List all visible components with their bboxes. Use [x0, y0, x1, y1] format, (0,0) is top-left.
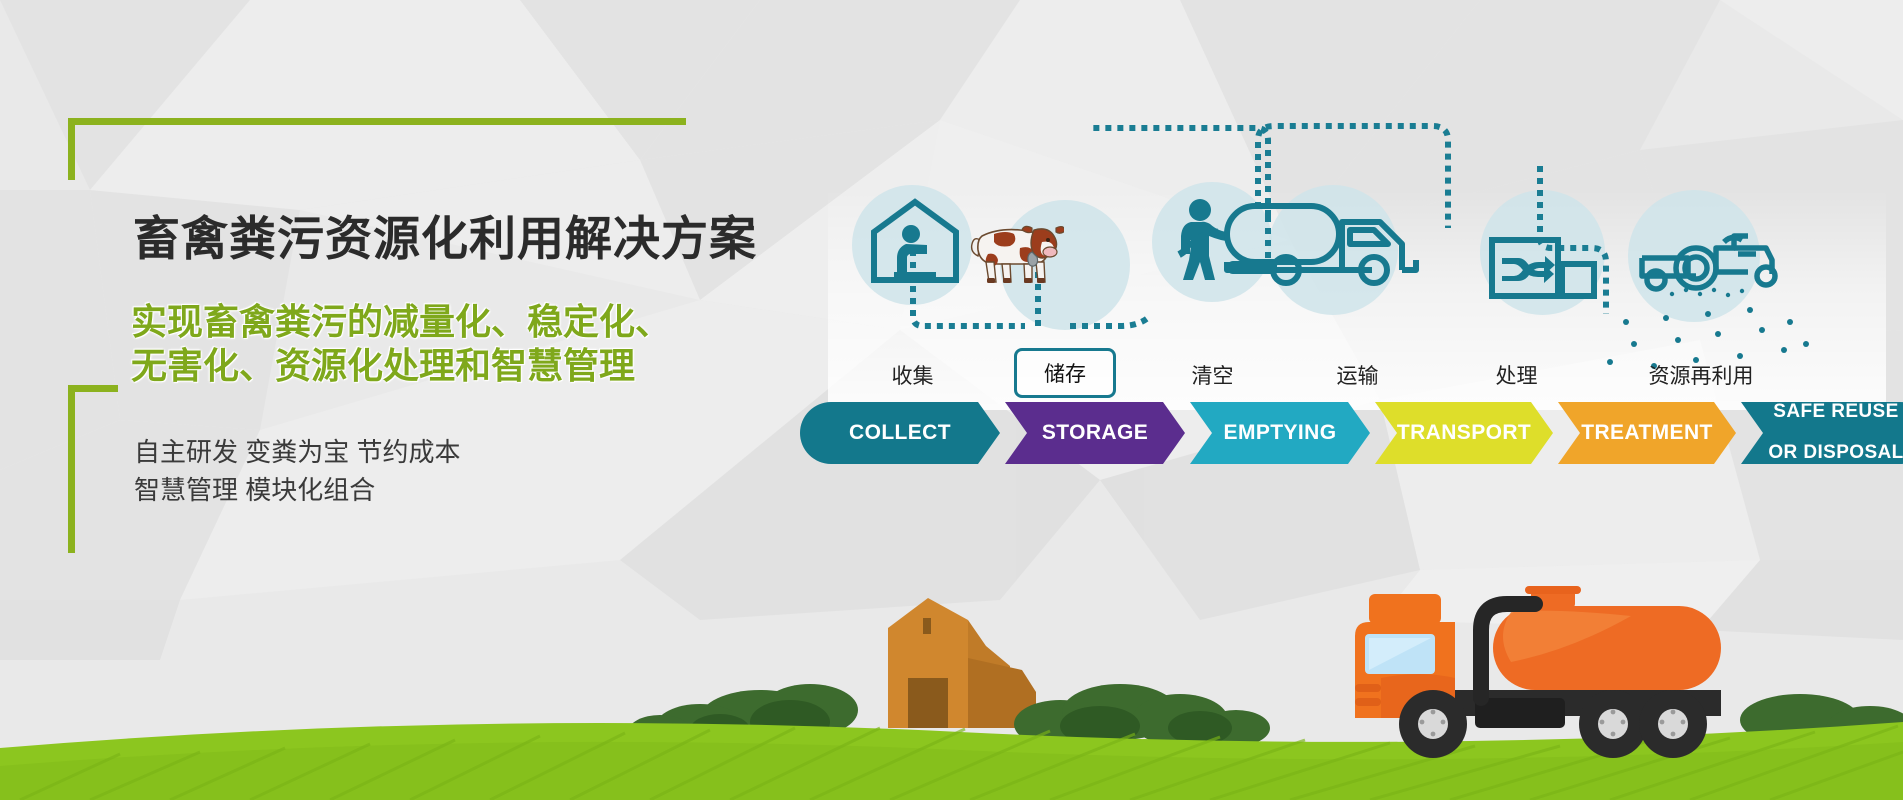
chevron-collect[interactable]: COLLECT [800, 402, 1000, 464]
chevron-safe-reuse-label: SAFE REUSE OR DISPOSAL [1752, 402, 1903, 464]
chevron-emptying[interactable]: EMPTYING [1190, 402, 1370, 464]
chevron-transport-label: TRANSPORT [1389, 422, 1539, 445]
tagline-line-1: 自主研发 变粪为宝 节约成本 [134, 434, 460, 472]
stage-label-treatment: 处理 [1459, 360, 1574, 390]
tractor-spreader-icon [1638, 212, 1788, 298]
page-subtitle-line-1: 实现畜禽粪污的减量化、稳定化、 [131, 300, 671, 344]
page-title: 畜禽粪污资源化利用解决方案 [133, 215, 757, 262]
chevron-emptying-label: EMPTYING [1216, 422, 1345, 445]
process-chevron-bar: COLLECT STORAGE EMPTYING TRANSPORT TREAT… [800, 402, 1903, 464]
latrine-house-icon [866, 196, 964, 288]
stage-label-collect: 收集 [855, 360, 970, 390]
orange-vacuum-tanker-truck [1325, 572, 1735, 762]
chevron-treatment-label: TREATMENT [1573, 422, 1721, 445]
banner-root: 畜禽粪污资源化利用解决方案 实现畜禽粪污的减量化、稳定化、 无害化、资源化处理和… [0, 0, 1903, 800]
frame-bottom-left-horizontal [68, 385, 118, 392]
chevron-storage[interactable]: STORAGE [1005, 402, 1185, 464]
truck-fuel-box [1475, 698, 1565, 728]
stage-label-transport: 运输 [1300, 360, 1415, 390]
chevron-safe-reuse-line-2: OR DISPOSAL [1760, 443, 1903, 464]
shuffle-arrows [1502, 256, 1555, 283]
chevron-treatment[interactable]: TREATMENT [1558, 402, 1736, 464]
chevron-safe-reuse-line-1: SAFE REUSE [1760, 402, 1903, 423]
spread-dots [1670, 288, 1744, 297]
chevron-transport[interactable]: TRANSPORT [1375, 402, 1553, 464]
chevron-safe-reuse-or-disposal[interactable]: SAFE REUSE OR DISPOSAL [1741, 402, 1903, 464]
cow-icon [968, 218, 1064, 286]
tanker-truck-icon [1222, 200, 1422, 286]
barn-icon [888, 598, 1036, 728]
frame-top-left-stub [68, 118, 75, 180]
chevron-storage-label: STORAGE [1034, 422, 1156, 445]
page-subtitle: 实现畜禽粪污的减量化、稳定化、 无害化、资源化处理和智慧管理 [131, 300, 671, 388]
stage-label-reuse: 资源再利用 [1611, 360, 1791, 390]
frame-top-bar [68, 118, 686, 125]
stage-label-storage-highlight[interactable]: 储存 [1014, 348, 1116, 398]
page-subtitle-line-2: 无害化、资源化处理和智慧管理 [131, 344, 671, 388]
mixing-shuffle-box-icon [1488, 236, 1598, 300]
chevron-collect-label: COLLECT [841, 422, 959, 445]
stage-label-emptying: 清空 [1155, 360, 1270, 390]
